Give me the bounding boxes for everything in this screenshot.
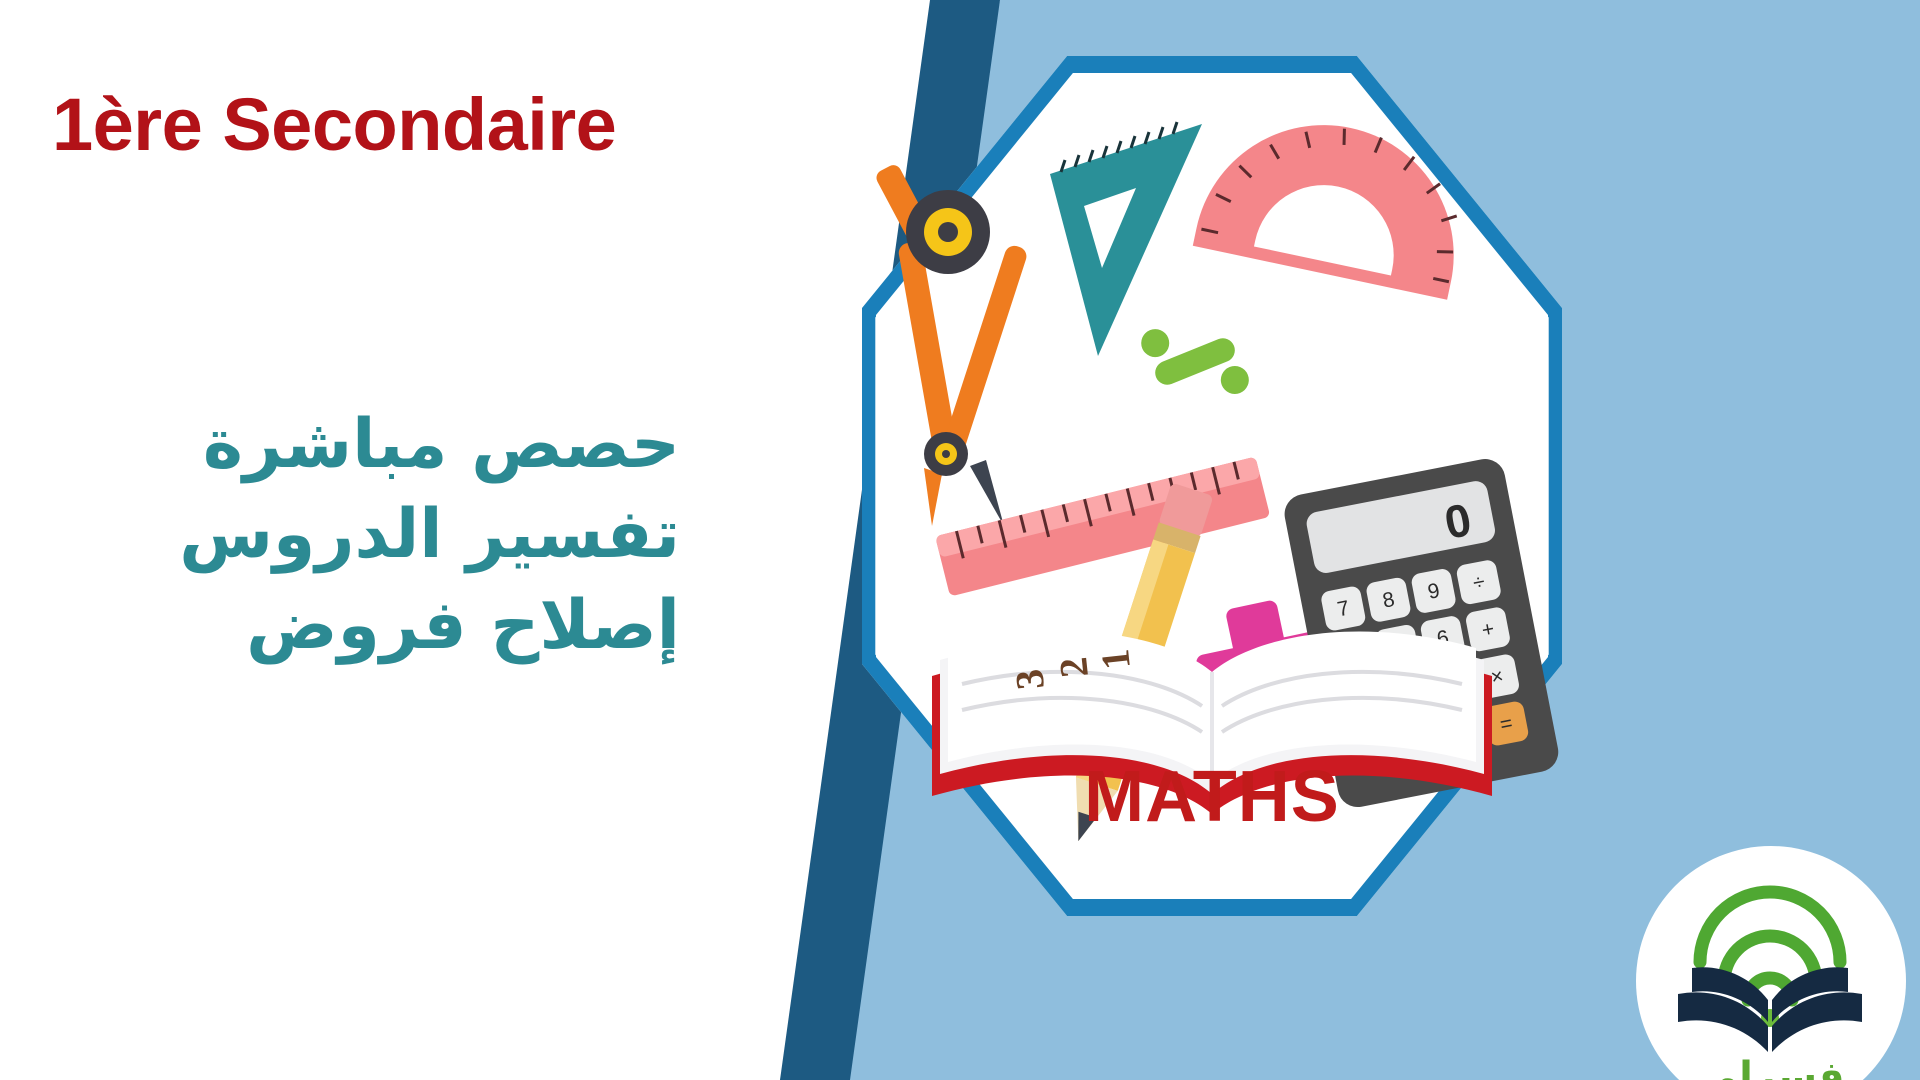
protractor-icon — [1193, 101, 1478, 300]
logo-mark — [1670, 876, 1870, 1076]
page-title: 1ère Secondaire — [52, 82, 616, 167]
divide-sign-icon — [1137, 302, 1253, 420]
brand-name: فسرلي — [1636, 1054, 1906, 1080]
maths-badge: 0 — [862, 56, 1562, 916]
arabic-line-2: تفسير الدروس — [0, 490, 740, 580]
left-text-column: 1ère Secondaire حصص مباشرة تفسير الدروس … — [0, 0, 790, 1080]
arabic-feature-list: حصص مباشرة تفسير الدروس إصلاح فروض — [0, 400, 740, 671]
arabic-line-3: إصلاح فروض — [0, 581, 740, 671]
arabic-line-1: حصص مباشرة — [0, 400, 740, 490]
subject-label: MATHS — [862, 756, 1562, 838]
compass-icon — [874, 162, 1029, 526]
set-square-triangle-icon — [1050, 122, 1202, 356]
poster-canvas: 1ère Secondaire حصص مباشرة تفسير الدروس … — [0, 0, 1920, 1080]
brand-logo[interactable]: فسرلي — [1636, 846, 1906, 1080]
